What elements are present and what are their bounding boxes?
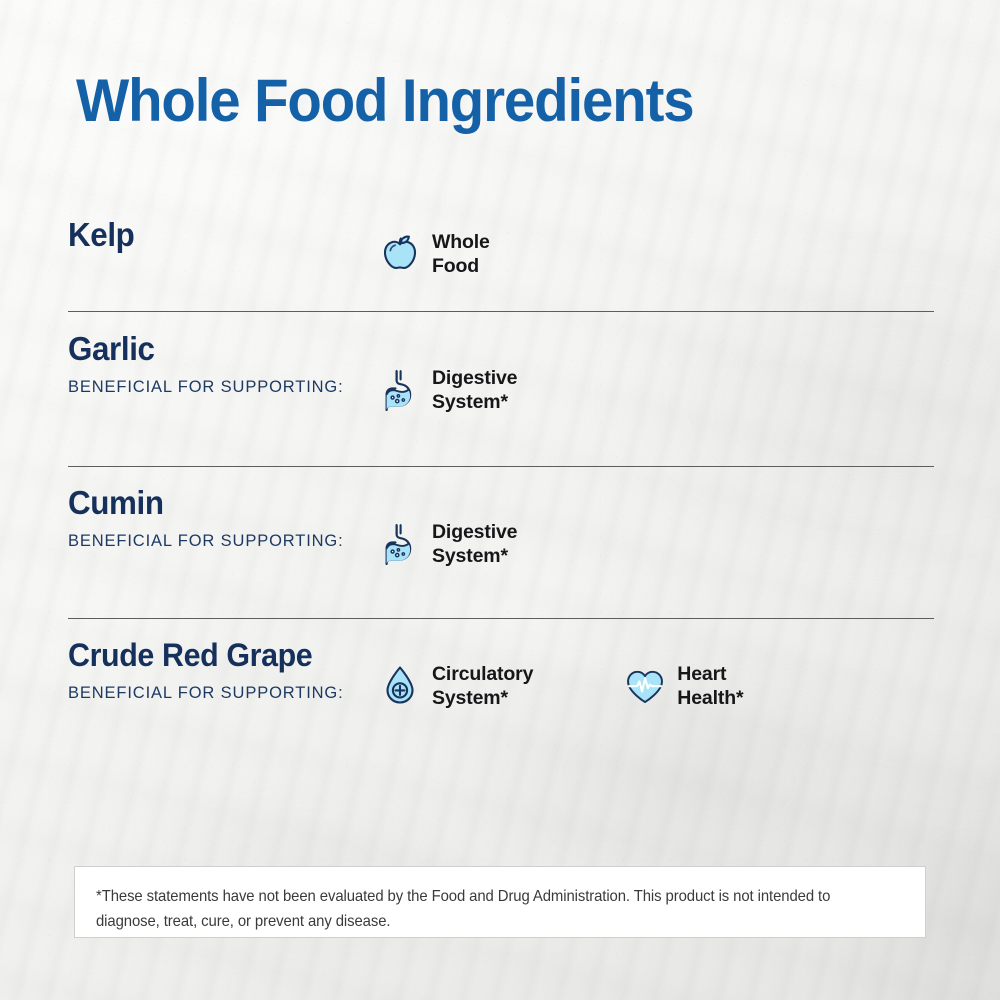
ingredient-name: Garlic [68,330,353,368]
disclaimer-text: *These statements have not been evaluate… [96,884,868,934]
benefit-list: Circulatory System* Heart Health* [378,662,743,710]
row-divider [68,618,934,619]
heart-pulse-icon [623,663,667,709]
benefit-list: Digestive System* [378,366,517,414]
blood-drop-icon [378,663,422,709]
ingredient-row-left: Crude Red GrapeBeneficial for supporting… [68,636,368,704]
stomach-icon [378,367,422,413]
benefit-list: Digestive System* [378,520,517,568]
benefit-list: Whole Food [378,230,490,278]
benefit-item: Digestive System* [378,366,517,414]
ingredient-panel: Whole Food Ingredients KelpBeneficial fo… [0,0,1000,1000]
ingredient-name: Cumin [68,484,353,522]
apple-icon [378,231,422,277]
ingredient-name: Kelp [68,216,353,254]
beneficial-for-supporting-label: Beneficial for supporting: [68,376,359,398]
stomach-icon [378,521,422,567]
beneficial-for-supporting-label: Beneficial for supporting: [68,682,359,704]
benefit-item: Heart Health* [623,662,743,710]
beneficial-for-supporting-label: Beneficial for supporting: [68,530,359,552]
benefit-item: Circulatory System* [378,662,533,710]
benefit-item: Whole Food [378,230,490,278]
ingredient-row-left: KelpBeneficial for supporting: [68,216,368,254]
row-divider [68,466,934,467]
ingredient-row: GarlicBeneficial for supporting: [68,330,934,460]
disclaimer-box: *These statements have not been evaluate… [74,866,926,938]
benefit-item: Digestive System* [378,520,517,568]
benefit-label: Heart Health* [677,662,743,710]
benefit-label: Circulatory System* [432,662,533,710]
ingredient-row: Crude Red GrapeBeneficial for supporting… [68,636,934,756]
row-divider [68,311,934,312]
ingredient-row-left: CuminBeneficial for supporting: [68,484,368,552]
page-title: Whole Food Ingredients [76,68,884,134]
benefit-label: Digestive System* [432,366,517,414]
benefit-label: Whole Food [432,230,490,278]
ingredient-row-left: GarlicBeneficial for supporting: [68,330,368,398]
ingredient-row: KelpBeneficial for supporting: Whole Foo… [68,216,934,308]
ingredient-name: Crude Red Grape [68,636,353,674]
ingredient-row: CuminBeneficial for supporting: [68,484,934,614]
benefit-label: Digestive System* [432,520,517,568]
